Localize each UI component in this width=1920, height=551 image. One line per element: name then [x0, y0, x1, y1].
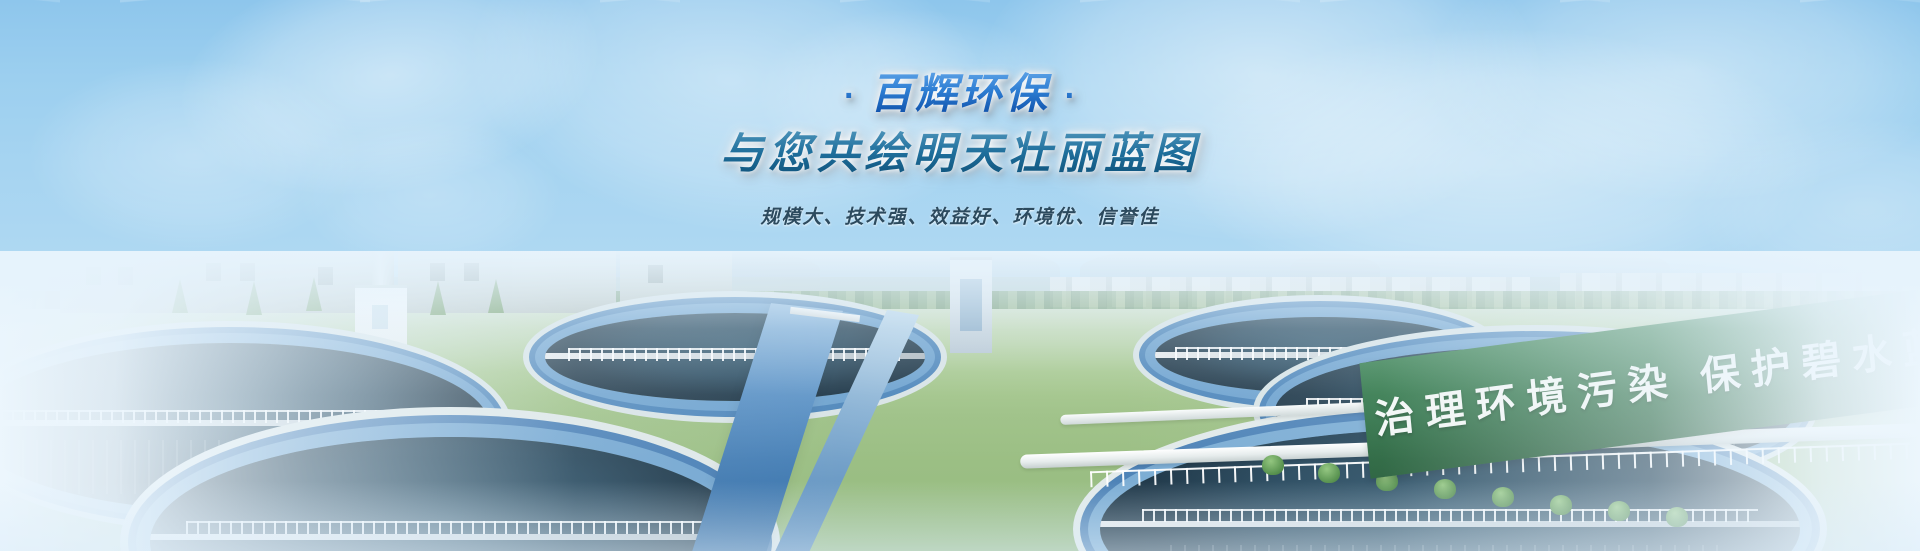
banner-headline: · 百辉环保 ·	[0, 72, 1920, 116]
conifer-tree	[246, 281, 262, 315]
tower-window	[960, 279, 982, 331]
headline-dot-left: ·	[844, 77, 855, 115]
banner-subline: 与您共绘明天壮丽蓝图	[0, 130, 1920, 179]
conifer-tree	[430, 281, 446, 315]
building-window	[206, 263, 221, 281]
plant-building	[178, 251, 288, 313]
shrub	[1666, 507, 1688, 527]
shrub	[1492, 487, 1514, 507]
hero-banner: 治理环境污染 保护碧水蓝天 · 百辉环保 · 与您共绘明天壮丽蓝图 规模大、技术…	[0, 0, 1920, 551]
shrub	[1262, 455, 1284, 475]
tank-bridge	[1100, 521, 1800, 527]
headline-dot-right: ·	[1065, 77, 1076, 115]
building-window	[372, 305, 388, 329]
conifer-tree	[306, 277, 322, 311]
plant-building	[512, 251, 616, 313]
building-window	[118, 267, 133, 285]
water-reflection	[1170, 545, 1730, 551]
building-window	[648, 265, 663, 283]
tank-bridge	[0, 420, 490, 426]
headline-text: 百辉环保	[870, 70, 1050, 117]
conifer-tree	[488, 279, 504, 313]
shrub	[1434, 479, 1456, 499]
tank-bridge	[150, 534, 750, 540]
banner-copy: · 百辉环保 · 与您共绘明天壮丽蓝图 规模大、技术强、效益好、环境优、信誉佳	[0, 72, 1920, 229]
plant-building	[620, 251, 732, 313]
shrub	[1550, 495, 1572, 515]
building-window	[430, 263, 445, 281]
plant-photo: 治理环境污染 保护碧水蓝天	[0, 251, 1920, 551]
conifer-tree	[172, 279, 188, 313]
shrub	[1318, 463, 1340, 483]
tank-handrail	[186, 521, 714, 534]
building-window	[240, 263, 255, 281]
banner-tagline: 规模大、技术强、效益好、环境优、信誉佳	[0, 202, 1920, 229]
building-window	[464, 263, 479, 281]
shrub	[1608, 501, 1630, 521]
building-window	[86, 267, 101, 285]
